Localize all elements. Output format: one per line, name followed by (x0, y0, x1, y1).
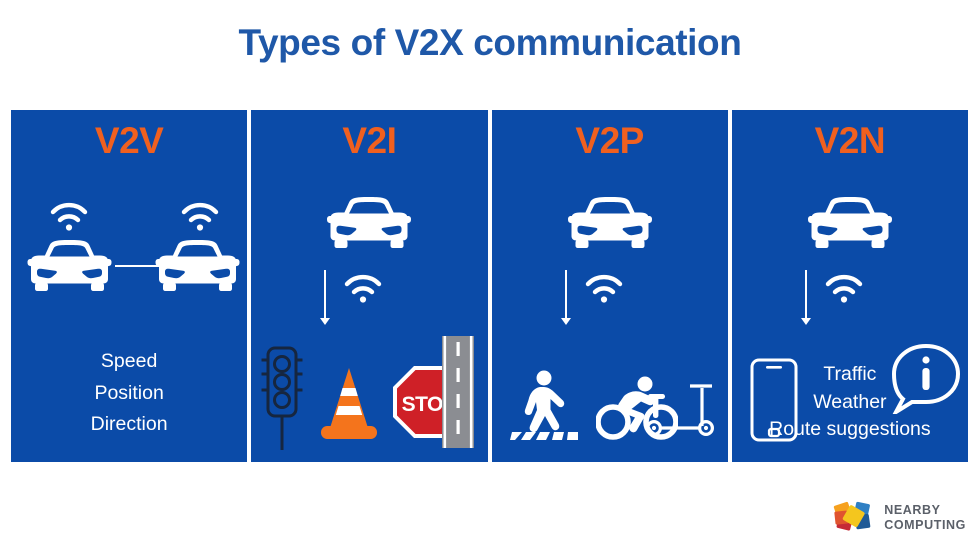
vulnerable-users-row (492, 336, 728, 448)
wifi-icon (180, 202, 220, 232)
page-title: Types of V2X communication (0, 22, 980, 64)
car-front-icon (807, 196, 892, 254)
car-front-icon (155, 239, 240, 297)
downlink-group-v2i (311, 270, 431, 330)
arrow-down-icon (317, 270, 333, 326)
v2v-scene (11, 202, 247, 312)
pedestrian-crosswalk-icon[interactable] (510, 370, 584, 442)
road-icon (438, 336, 478, 448)
panel-body-text-v2n: Traffic Weather Route suggestions (732, 361, 968, 444)
traffic-cone-icon[interactable] (318, 366, 380, 442)
car-front-icon (567, 196, 652, 254)
traffic-light-icon[interactable] (259, 344, 305, 452)
car-front-icon (27, 239, 112, 297)
logo-text-line2: COMPUTING (884, 518, 966, 533)
wifi-icon (584, 274, 624, 304)
panel-body-text-v2v: Speed Position Direction (11, 346, 247, 441)
panel-title-v2v: V2V (11, 122, 247, 159)
panel-group: V2V (11, 110, 968, 462)
logo-text-line1: NEARBY (884, 503, 966, 518)
kick-scooter-icon[interactable] (646, 378, 716, 440)
wifi-icon (49, 202, 89, 232)
panel-v2i[interactable]: V2I (251, 110, 487, 462)
nearby-computing-mark-icon (829, 495, 875, 541)
panel-title-v2n: V2N (732, 122, 968, 159)
panel-v2v[interactable]: V2V (11, 110, 247, 462)
panel-v2p[interactable]: V2P (492, 110, 728, 462)
arrow-down-icon (558, 270, 574, 326)
panel-v2n[interactable]: V2N (732, 110, 968, 462)
infrastructure-row: STOP (251, 336, 487, 448)
wifi-icon (824, 274, 864, 304)
panel-title-v2i: V2I (251, 122, 487, 159)
network-services-row: Traffic Weather Route suggestions (732, 336, 968, 448)
wifi-icon (343, 274, 383, 304)
downlink-group-v2n (792, 270, 912, 330)
car-front-icon (327, 196, 412, 254)
downlink-group-v2p (552, 270, 672, 330)
panel-title-v2p: V2P (492, 122, 728, 159)
arrow-down-icon (798, 270, 814, 326)
brand-logo[interactable]: NEARBY COMPUTING (829, 495, 966, 541)
